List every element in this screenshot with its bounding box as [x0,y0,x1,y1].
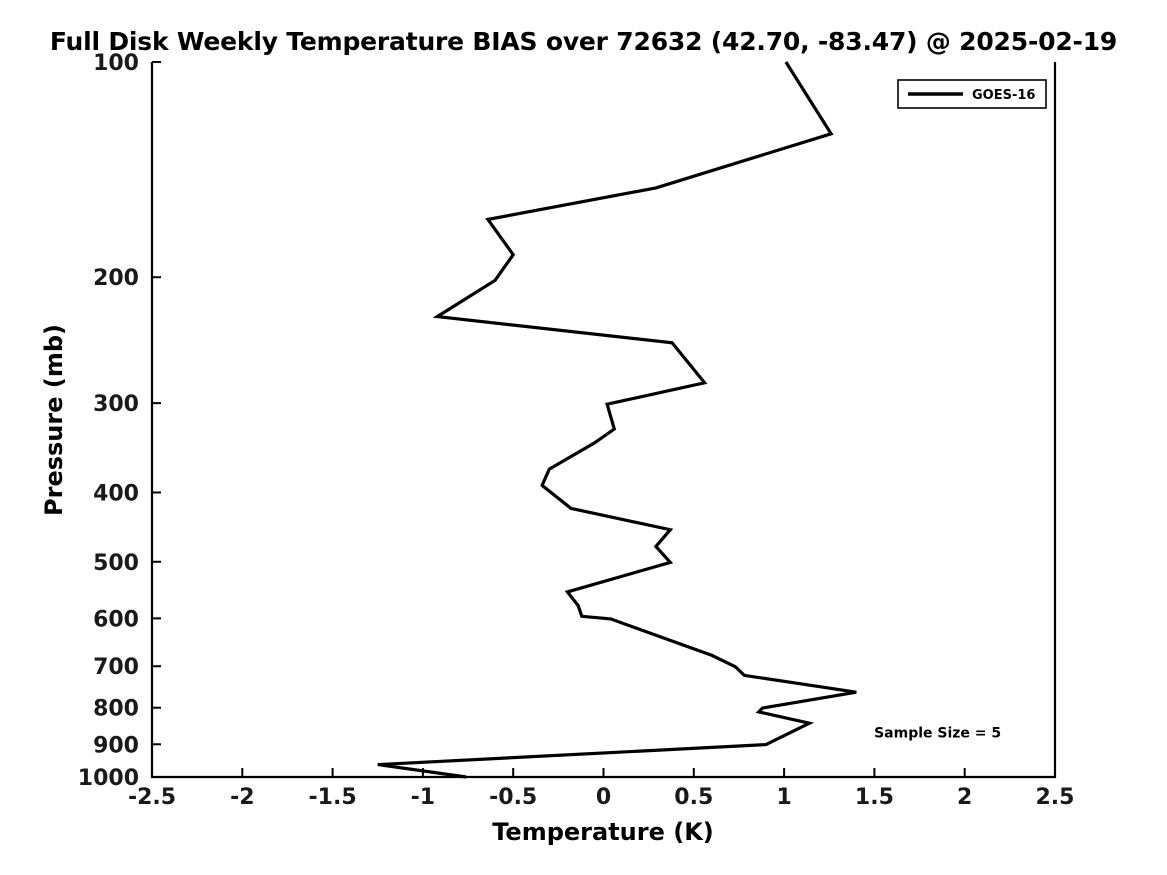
chart-figure: Full Disk Weekly Temperature BIAS over 7… [0,0,1167,875]
x-tick-label: 2.5 [1036,785,1075,810]
y-tick-label: 300 [93,392,139,417]
x-tick-label: -1.5 [309,785,357,810]
sample-size-annotation: Sample Size = 5 [874,725,1001,741]
y-tick-label: 200 [93,266,139,291]
plot-area: -2.5-2-1.5-1-0.500.511.522.5 10020030040… [0,0,1167,875]
x-axis-ticks: -2.5-2-1.5-1-0.500.511.522.5 [128,768,1075,810]
y-tick-label: 700 [93,655,139,680]
x-tick-label: 1 [776,785,791,810]
x-tick-label: 0.5 [674,785,713,810]
legend-label-goes-16: GOES-16 [972,88,1035,103]
y-tick-label: 500 [93,551,139,576]
y-tick-label: 400 [93,481,139,506]
y-tick-label: 1000 [78,766,139,791]
y-tick-label: 900 [93,733,139,758]
series-line-goes-16 [378,62,857,777]
y-axis-ticks: 1002003004005006007008009001000 [78,51,161,791]
axis-frame [152,62,1055,777]
y-tick-label: 100 [93,51,139,76]
x-tick-label: 1.5 [855,785,894,810]
x-tick-label: 0 [596,785,611,810]
x-tick-label: -0.5 [489,785,537,810]
y-tick-label: 600 [93,607,139,632]
y-axis-title: Pressure (mb) [40,324,68,516]
x-axis-title: Temperature (K) [492,818,714,846]
data-series-group [378,62,857,777]
y-tick-label: 800 [93,697,139,722]
legend[interactable]: GOES-16 [898,80,1046,108]
x-tick-label: -2 [230,785,254,810]
x-tick-label: -1 [411,785,435,810]
axis-frame-line [152,62,1055,777]
x-tick-label: 2 [957,785,972,810]
